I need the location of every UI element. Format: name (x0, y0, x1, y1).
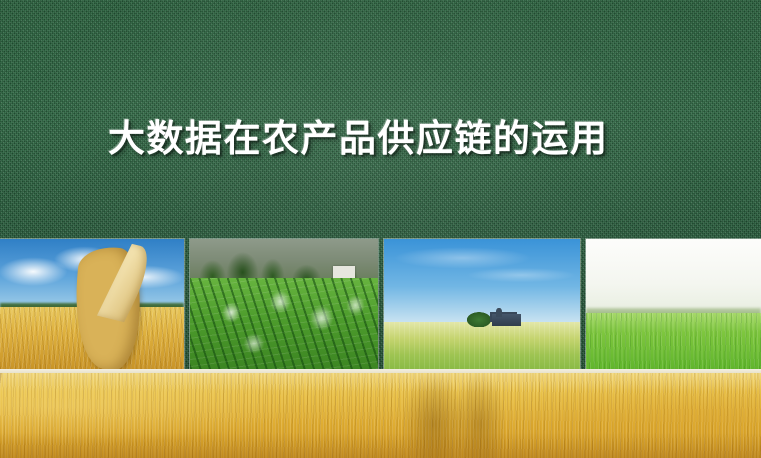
wheat-ear-field-photo (0, 239, 184, 369)
farmhouse-grassland-photo (384, 239, 580, 369)
rice-paddy-photo (586, 239, 761, 369)
silo-shape (496, 308, 502, 317)
hazy-sky-layer (586, 239, 761, 313)
tree-cluster-shape (462, 309, 495, 327)
wheat-field-panorama (0, 373, 761, 458)
sprinkler-spray-layer (190, 278, 378, 369)
slide-title: 大数据在农产品供应链的运用 (108, 118, 708, 160)
photo-strip (0, 239, 761, 369)
tea-terrace-irrigation-photo (190, 239, 378, 369)
presentation-slide: 大数据在农产品供应链的运用 (0, 0, 761, 458)
rice-field-layer (586, 313, 761, 369)
grassland-layer (384, 322, 580, 369)
